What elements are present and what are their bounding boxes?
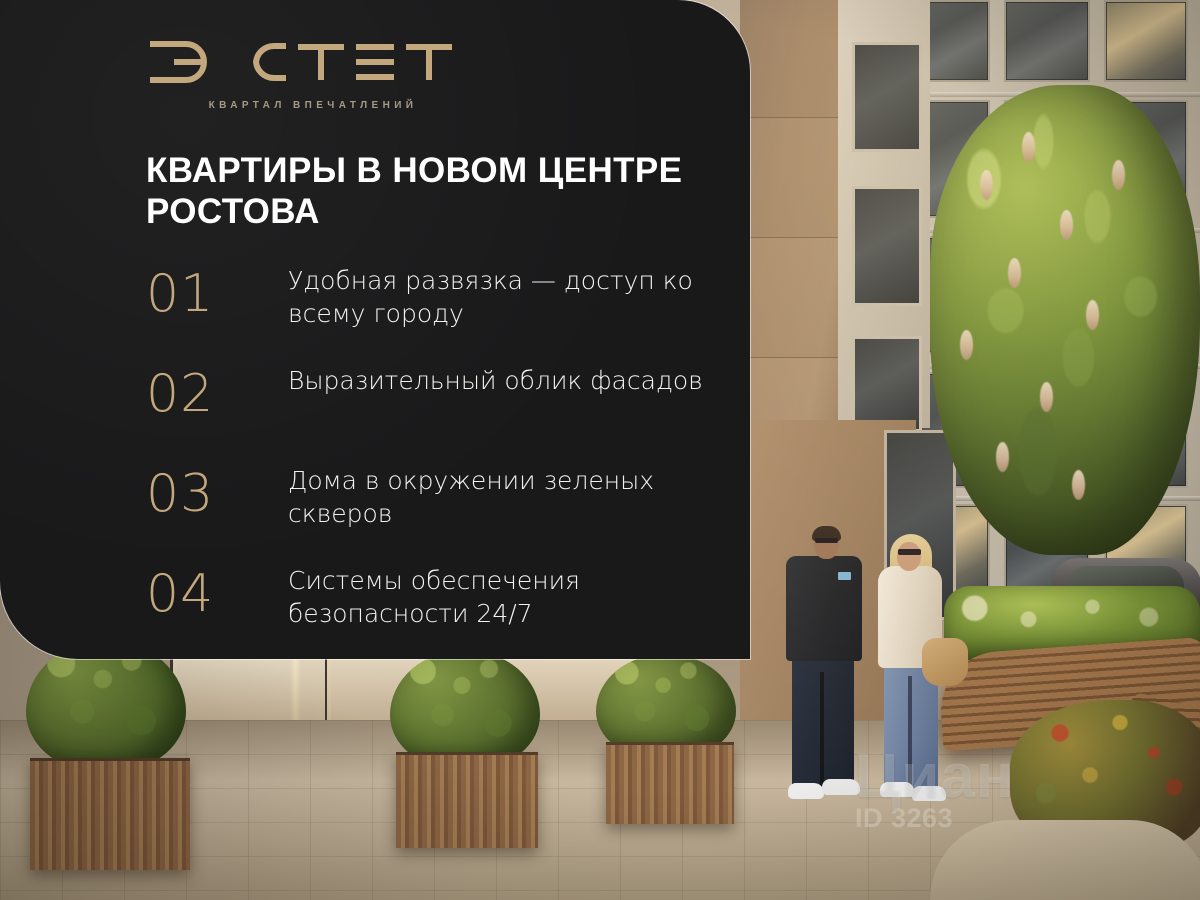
feature-item: 04 Системы обеспечения безопасности 24/7 bbox=[146, 562, 726, 659]
estet-wordmark-icon bbox=[148, 38, 478, 86]
round-planter bbox=[930, 820, 1200, 900]
planter-shrub bbox=[26, 640, 186, 770]
feature-text: Дома в окружении зеленых скверов bbox=[288, 462, 726, 530]
building-window bbox=[1104, 0, 1188, 82]
feature-text: Выразительный облик фасадов bbox=[288, 362, 726, 397]
wooden-planter bbox=[396, 752, 538, 848]
brand-tagline: КВАРТАЛ ВПЕЧАТЛЕНИЙ bbox=[148, 100, 478, 111]
brand-logo: КВАРТАЛ ВПЕЧАТЛЕНИЙ bbox=[148, 38, 478, 111]
feature-item: 01 Удобная развязка — доступ ко всему го… bbox=[146, 262, 726, 362]
planter-shrub bbox=[390, 650, 540, 768]
page-title: КВАРТИРЫ В НОВОМ ЦЕНТРЕ РОСТОВА bbox=[146, 150, 706, 233]
feature-list: 01 Удобная развязка — доступ ко всему го… bbox=[146, 262, 726, 659]
building-window bbox=[1004, 0, 1090, 82]
feature-text: Системы обеспечения безопасности 24/7 bbox=[288, 562, 726, 630]
feature-item: 03 Дома в окружении зеленых скверов bbox=[146, 462, 726, 562]
tower-window bbox=[852, 336, 922, 432]
feature-text: Удобная развязка — доступ ко всему город… bbox=[288, 262, 726, 330]
chestnut-tree bbox=[930, 85, 1200, 555]
wooden-planter bbox=[606, 742, 734, 824]
feature-item: 02 Выразительный облик фасадов bbox=[146, 362, 726, 462]
feature-number: 01 bbox=[146, 262, 288, 320]
feature-number: 02 bbox=[146, 362, 288, 420]
tower-window bbox=[852, 42, 922, 152]
tower-window bbox=[852, 186, 922, 306]
info-panel: КВАРТАЛ ВПЕЧАТЛЕНИЙ КВАРТИРЫ В НОВОМ ЦЕН… bbox=[0, 0, 750, 659]
feature-number: 04 bbox=[146, 562, 288, 620]
wooden-planter bbox=[30, 758, 190, 870]
feature-number: 03 bbox=[146, 462, 288, 520]
